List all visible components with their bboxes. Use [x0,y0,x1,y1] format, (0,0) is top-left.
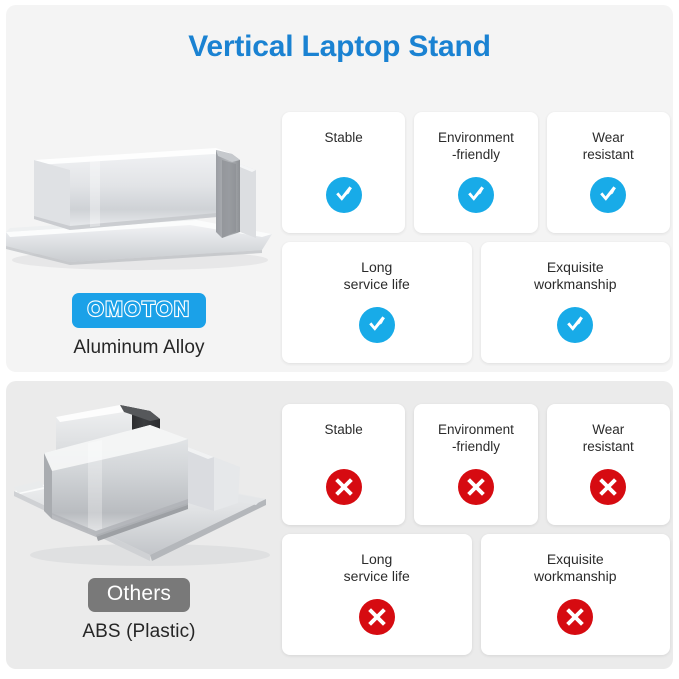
feature-label: Stable [325,421,363,438]
cross-icon [557,599,593,635]
feature-label: Environment -friendly [438,129,514,163]
aluminum-stand-illustration [0,120,278,285]
feature-card: Wear resistant [547,404,670,525]
feature-card: Stable [282,404,405,525]
others-material-label: ABS (Plastic) [0,621,278,643]
check-icon [458,177,494,213]
feature-label: Exquisite workmanship [534,259,616,293]
omoton-brand-badge: OMOTON [72,293,205,328]
check-icon [557,307,593,343]
feature-label: Long service life [344,551,410,585]
feature-card: Exquisite workmanship [481,242,671,363]
omoton-feature-grid-row1: Stable Environment -friendly Wear resist… [282,112,670,233]
feature-card: Long service life [282,534,472,655]
cross-icon [590,469,626,505]
feature-label: Wear resistant [583,421,634,455]
others-brand-label: Others [107,582,171,605]
feature-card: Wear resistant [547,112,670,233]
others-brand-badge: Others [88,578,190,612]
cross-icon [458,469,494,505]
feature-card: Environment -friendly [414,404,537,525]
feature-card: Environment -friendly [414,112,537,233]
omoton-material-label: Aluminum Alloy [0,337,278,359]
page-title: Vertical Laptop Stand [0,30,679,64]
others-feature-grid-row2: Long service life Exquisite workmanship [282,534,670,655]
cross-icon [326,469,362,505]
cross-icon [359,599,395,635]
plastic-stand-illustration [0,395,278,575]
others-brand-block: Others ABS (Plastic) [0,578,278,643]
omoton-brand-label: OMOTON [87,298,190,321]
feature-label: Wear resistant [583,129,634,163]
feature-label: Exquisite workmanship [534,551,616,585]
feature-label: Stable [325,129,363,146]
feature-label: Long service life [344,259,410,293]
feature-card: Stable [282,112,405,233]
others-feature-grid-row1: Stable Environment -friendly Wear resist… [282,404,670,525]
check-icon [359,307,395,343]
others-product-image [0,395,278,575]
feature-card: Long service life [282,242,472,363]
omoton-brand-block: OMOTON Aluminum Alloy [0,293,278,359]
product-comparison-infographic: Vertical Laptop Stand [0,0,679,679]
feature-card: Exquisite workmanship [481,534,671,655]
feature-label: Environment -friendly [438,421,514,455]
check-icon [326,177,362,213]
check-icon [590,177,626,213]
omoton-feature-grid-row2: Long service life Exquisite workmanship [282,242,670,363]
omoton-product-image [0,120,278,285]
